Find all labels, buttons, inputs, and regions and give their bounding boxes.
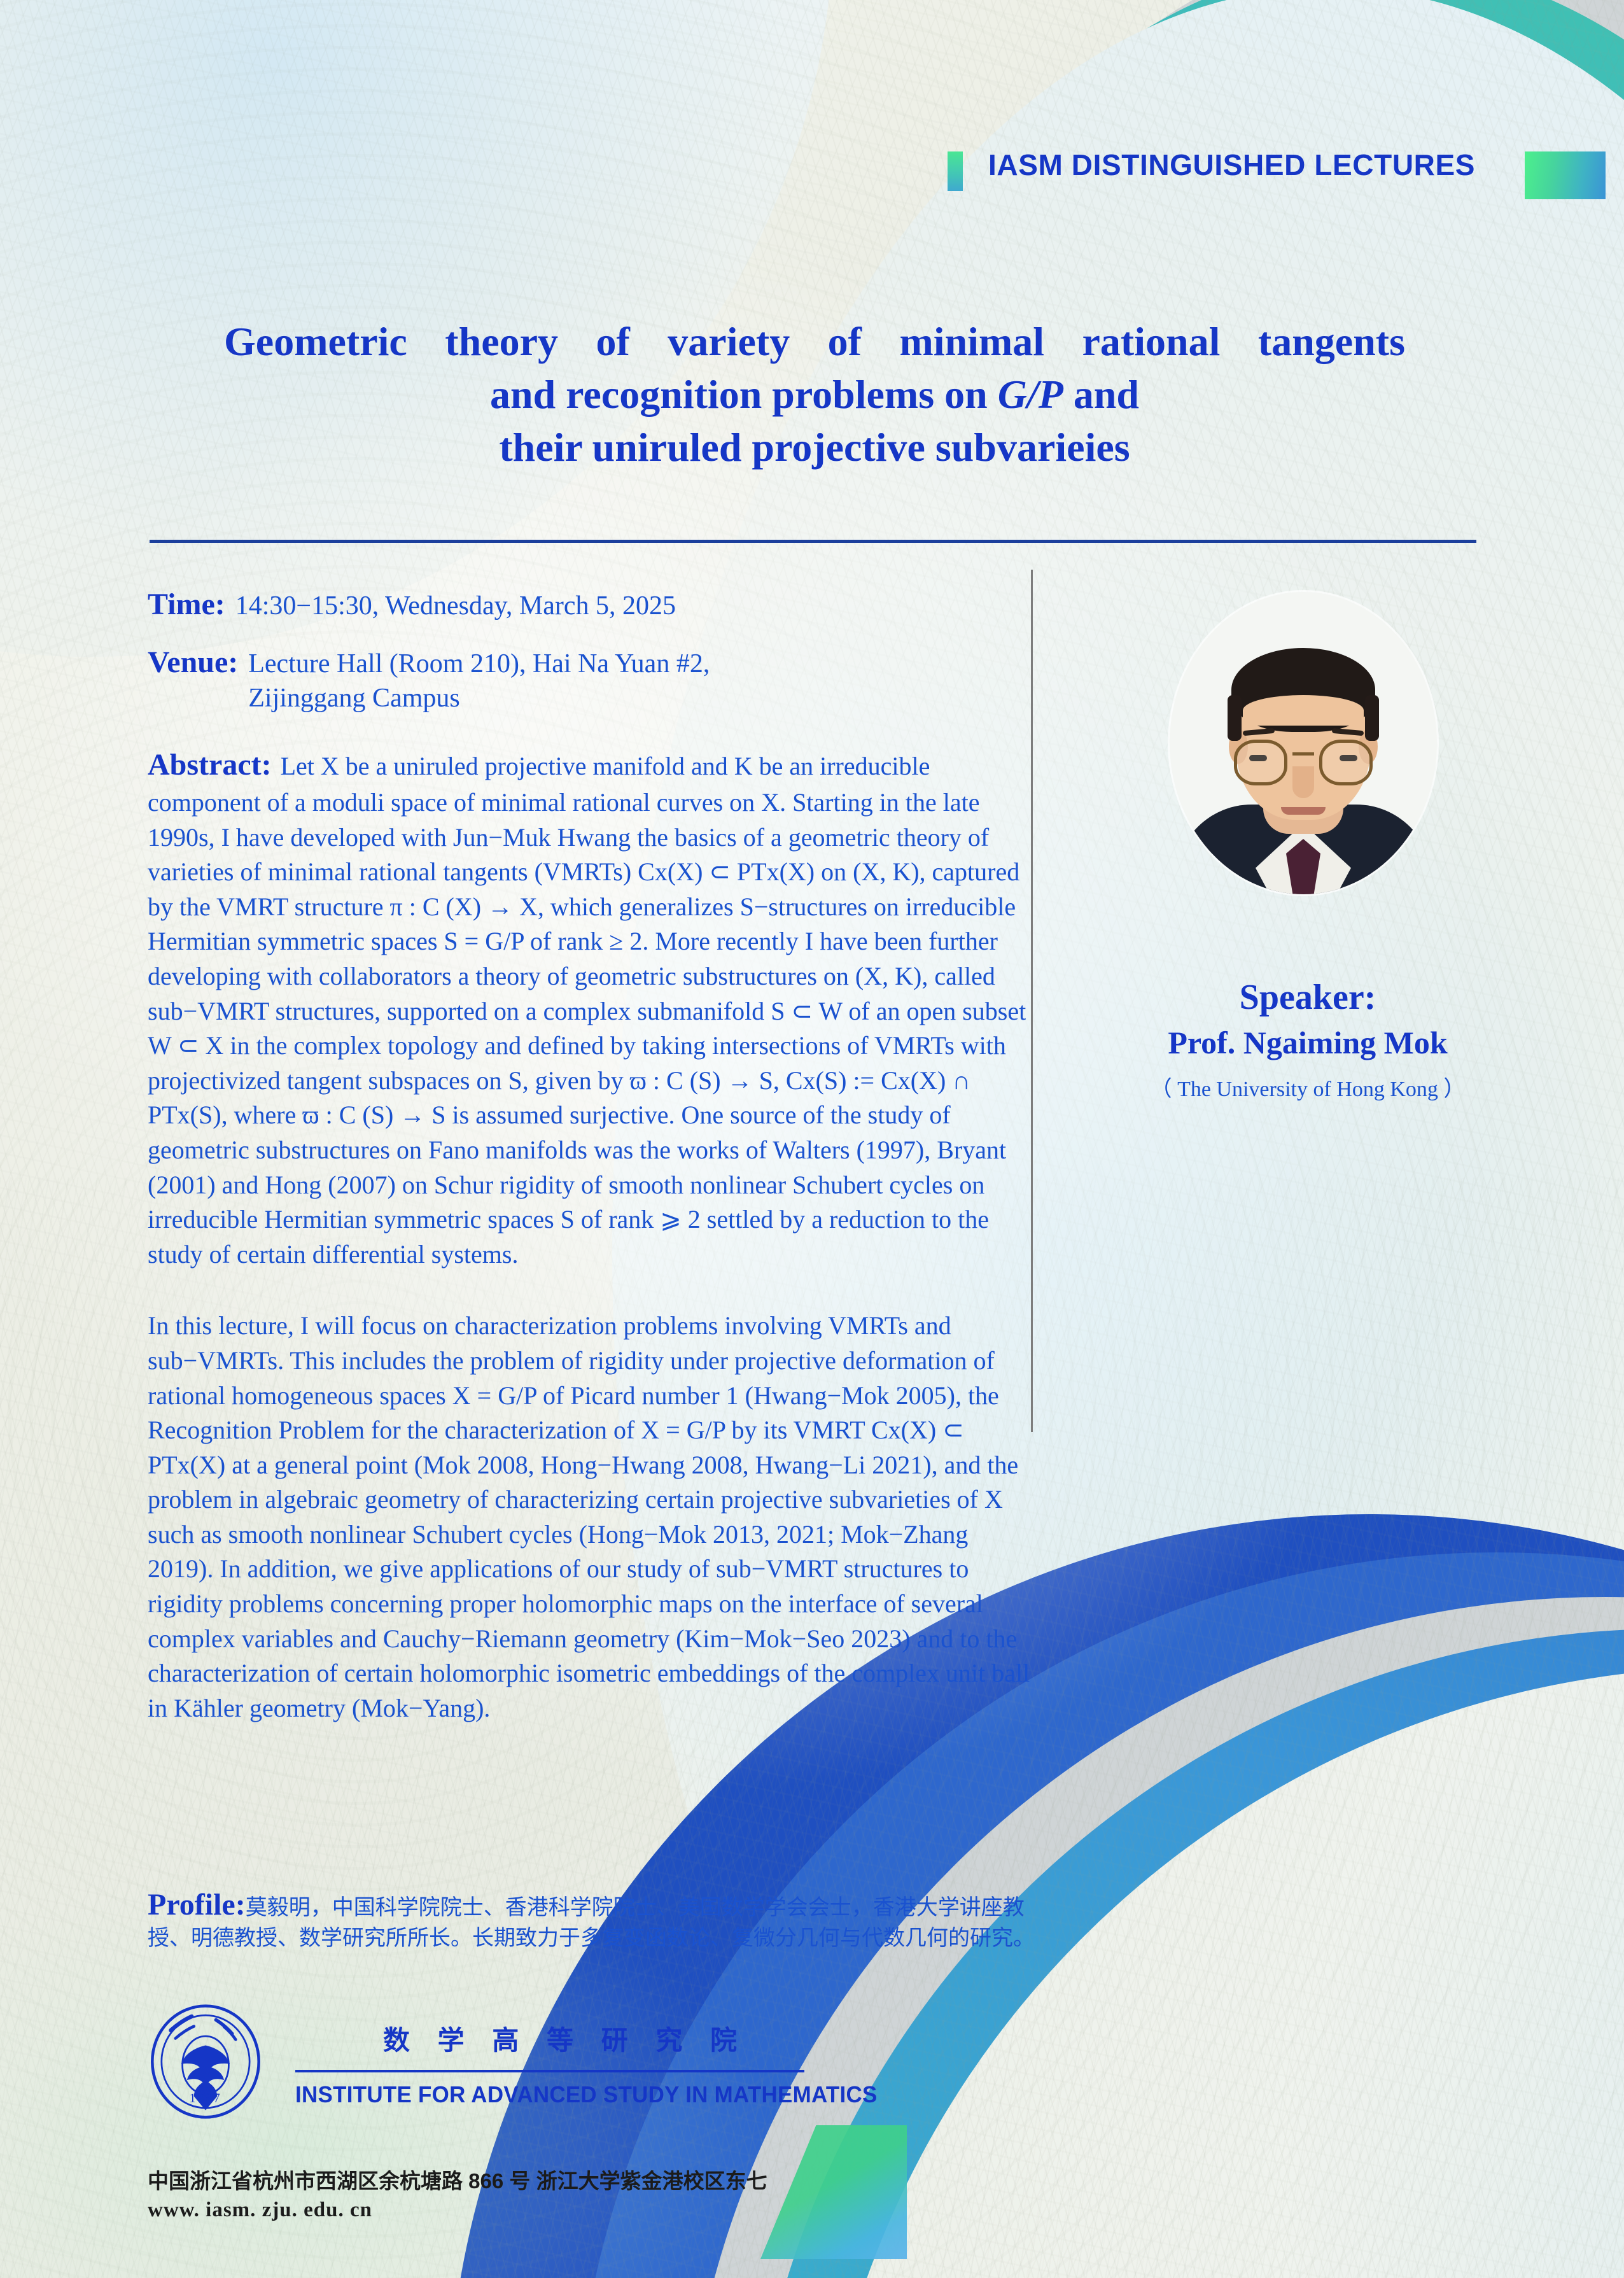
- portrait-sideburn-right: [1365, 695, 1379, 741]
- speaker-name: Prof. Ngaiming Mok: [1056, 1024, 1559, 1061]
- portrait-photo: [1198, 634, 1408, 889]
- portrait-sideburn-left: [1228, 695, 1242, 741]
- institute-name-cn: 数 学 高 等 研 究 院: [383, 2019, 747, 2058]
- speaker-label: Speaker:: [1056, 977, 1559, 1018]
- header-title: IASM DISTINGUISHED LECTURES: [988, 148, 1475, 182]
- speaker-affiliation: （ The University of Hong Kong ）: [1056, 1071, 1559, 1102]
- title-divider: [150, 540, 1476, 543]
- zhejiang-university-logo-icon: 1897: [148, 2004, 263, 2120]
- poster-canvas: IASM DISTINGUISHED LECTURES Geometric th…: [0, 0, 1624, 2278]
- venue-value: Lecture Hall (Room 210), Hai Na Yuan #2,…: [248, 647, 710, 716]
- portrait-glasses-bridge: [1292, 752, 1314, 756]
- title-line-2-emph: G/P: [998, 372, 1063, 417]
- venue-row: Venue: Lecture Hall (Room 210), Hai Na Y…: [148, 645, 1032, 716]
- title-line-1: Geometric theory of variety of minimal r…: [210, 315, 1419, 368]
- content-column-left: Time: 14:30−15:30, Wednesday, March 5, 2…: [148, 587, 1032, 1726]
- venue-label: Venue:: [148, 645, 238, 680]
- portrait-mouth: [1281, 807, 1326, 815]
- title-line-3: their uniruled projective subvarieies: [210, 421, 1419, 474]
- footer-logo-row: 1897 数 学 高 等 研 究 院 INSTITUTE FOR ADVANCE…: [148, 1999, 975, 2126]
- time-row: Time: 14:30−15:30, Wednesday, March 5, 2…: [148, 587, 1032, 622]
- abstract-block: Abstract:Let X be a uniruled projective …: [148, 744, 1032, 1726]
- venue-line-1: Lecture Hall (Room 210), Hai Na Yuan #2,: [248, 649, 710, 678]
- time-label: Time:: [148, 587, 225, 622]
- title-line-2-pre: and recognition problems on: [490, 372, 998, 417]
- speaker-portrait: [1170, 592, 1437, 894]
- portrait-glasses-left: [1234, 740, 1287, 785]
- abstract-label: Abstract:: [148, 748, 272, 782]
- portrait-glasses-right: [1319, 740, 1373, 785]
- profile-text: 莫毅明，中国科学院院士、香港科学院院士、美国数学学会会士，香港大学讲座教授、明德…: [148, 1895, 1035, 1950]
- address-line-cn: 中国浙江省杭州市西湖区余杭塘路 866 号 浙江大学紫金港校区东七: [148, 2167, 975, 2196]
- speaker-block: Speaker: Prof. Ngaiming Mok （ The Univer…: [1056, 977, 1559, 1102]
- institute-divider: [295, 2070, 804, 2072]
- profile-block: Profile:莫毅明，中国科学院院士、香港科学院院士、美国数学学会会士，香港大…: [148, 1887, 1058, 1954]
- venue-line-2: Zijinggang Campus: [248, 684, 459, 713]
- footer-block: 1897 数 学 高 等 研 究 院 INSTITUTE FOR ADVANCE…: [148, 1999, 975, 2126]
- abstract-paragraph-1: Abstract:Let X be a uniruled projective …: [148, 744, 1032, 1272]
- profile-label: Profile:: [148, 1888, 246, 1922]
- abstract-paragraph-2: In this lecture, I will focus on charact…: [148, 1309, 1032, 1726]
- abstract-paragraph-1-text: Let X be a uniruled projective manifold …: [148, 752, 1026, 1269]
- time-value: 14:30−15:30, Wednesday, March 5, 2025: [235, 591, 676, 621]
- footer-address: 中国浙江省杭州市西湖区余杭塘路 866 号 浙江大学紫金港校区东七 www. i…: [148, 2167, 975, 2224]
- portrait-hair: [1231, 648, 1375, 732]
- title-line-2-post: and: [1063, 372, 1139, 417]
- portrait-oval-frame: [1170, 592, 1437, 894]
- title-line-2: and recognition problems on G/P and: [210, 368, 1419, 421]
- page-title: Geometric theory of variety of minimal r…: [210, 315, 1419, 474]
- logo-year-text: 1897: [190, 2092, 222, 2106]
- header-accent-square-icon: [1525, 151, 1606, 199]
- address-website: www. iasm. zju. edu. cn: [148, 2196, 975, 2225]
- institute-name-en: INSTITUTE FOR ADVANCED STUDY IN MATHEMAT…: [295, 2081, 878, 2108]
- header-accent-bar-icon: [948, 151, 963, 191]
- header-bar: IASM DISTINGUISHED LECTURES: [0, 144, 1624, 199]
- portrait-nose: [1292, 766, 1314, 798]
- column-divider: [1031, 570, 1033, 1432]
